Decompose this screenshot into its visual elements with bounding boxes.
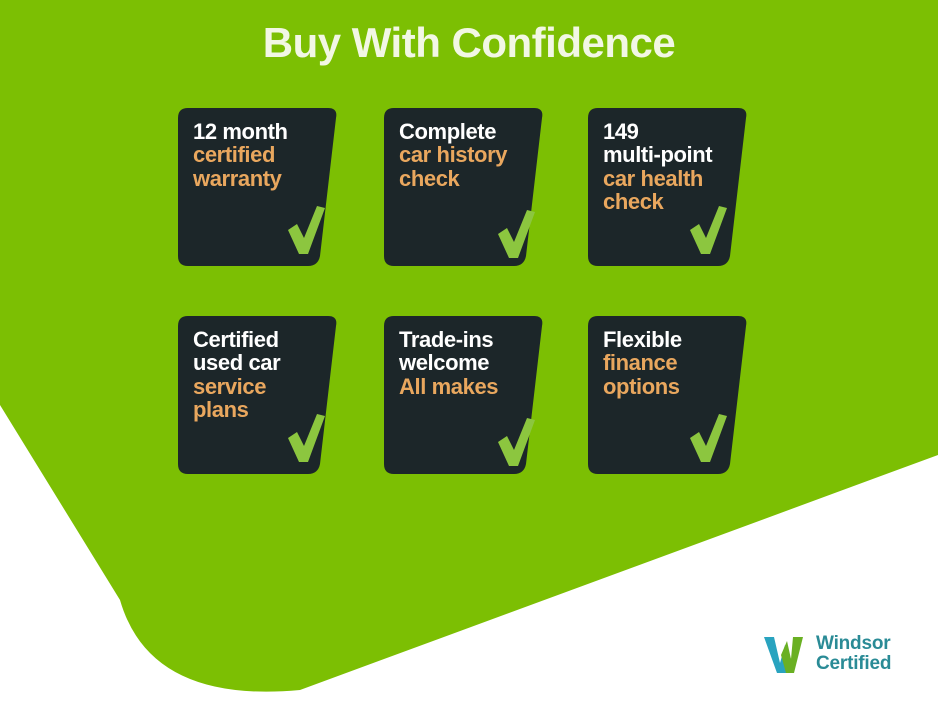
logo-wordmark: Windsor Certified <box>816 634 891 674</box>
card-line-accent: service <box>193 375 338 398</box>
card-line-white: Trade-ins <box>399 328 544 351</box>
logo-line-certified: Certified <box>816 654 891 674</box>
card-line-white: Certified <box>193 328 338 351</box>
windsor-w-icon <box>762 633 808 675</box>
feature-card-trade-ins-welcome-all-makes[interactable]: Trade-ins welcome All makes <box>384 316 552 474</box>
card-line-accent: options <box>603 375 748 398</box>
card-line-accent: certified <box>193 143 338 166</box>
feature-card-149-multi-point-car-health-check[interactable]: 149 multi-point car health check <box>588 108 756 266</box>
card-text-block: Trade-ins welcome All makes <box>399 328 544 398</box>
card-line-accent: car history <box>399 143 544 166</box>
page-title: Buy With Confidence <box>0 19 938 67</box>
check-icon <box>286 204 326 256</box>
card-line-accent: All makes <box>399 375 544 398</box>
check-icon <box>688 412 728 464</box>
card-line-white: multi-point <box>603 143 748 166</box>
card-line-white: 149 <box>603 120 748 143</box>
card-text-block: Flexible finance options <box>603 328 748 398</box>
card-line-accent: finance <box>603 351 748 374</box>
check-icon <box>688 204 728 256</box>
check-icon <box>286 412 326 464</box>
card-text-block: Complete car history check <box>399 120 544 190</box>
card-line-accent: car health <box>603 167 748 190</box>
feature-card-12-month-certified-warranty[interactable]: 12 month certified warranty <box>178 108 346 266</box>
card-line-white: Flexible <box>603 328 748 351</box>
feature-card-complete-car-history-check[interactable]: Complete car history check <box>384 108 552 266</box>
card-line-accent: warranty <box>193 167 338 190</box>
card-text-block: Certified used car service plans <box>193 328 338 421</box>
check-icon <box>496 416 536 468</box>
card-text-block: 12 month certified warranty <box>193 120 338 190</box>
feature-card-certified-used-car-service-plans[interactable]: Certified used car service plans <box>178 316 346 474</box>
slide-canvas: Buy With Confidence 12 month certified w… <box>0 0 938 704</box>
card-line-white: used car <box>193 351 338 374</box>
brand-logo[interactable]: Windsor Certified <box>762 628 932 680</box>
card-line-accent: check <box>399 167 544 190</box>
feature-card-flexible-finance-options[interactable]: Flexible finance options <box>588 316 756 474</box>
feature-card-grid: 12 month certified warranty Complete car… <box>178 108 758 478</box>
card-line-white: Complete <box>399 120 544 143</box>
logo-line-windsor: Windsor <box>816 634 891 654</box>
card-line-white: welcome <box>399 351 544 374</box>
check-icon <box>496 208 536 260</box>
card-line-white: 12 month <box>193 120 338 143</box>
card-text-block: 149 multi-point car health check <box>603 120 748 213</box>
